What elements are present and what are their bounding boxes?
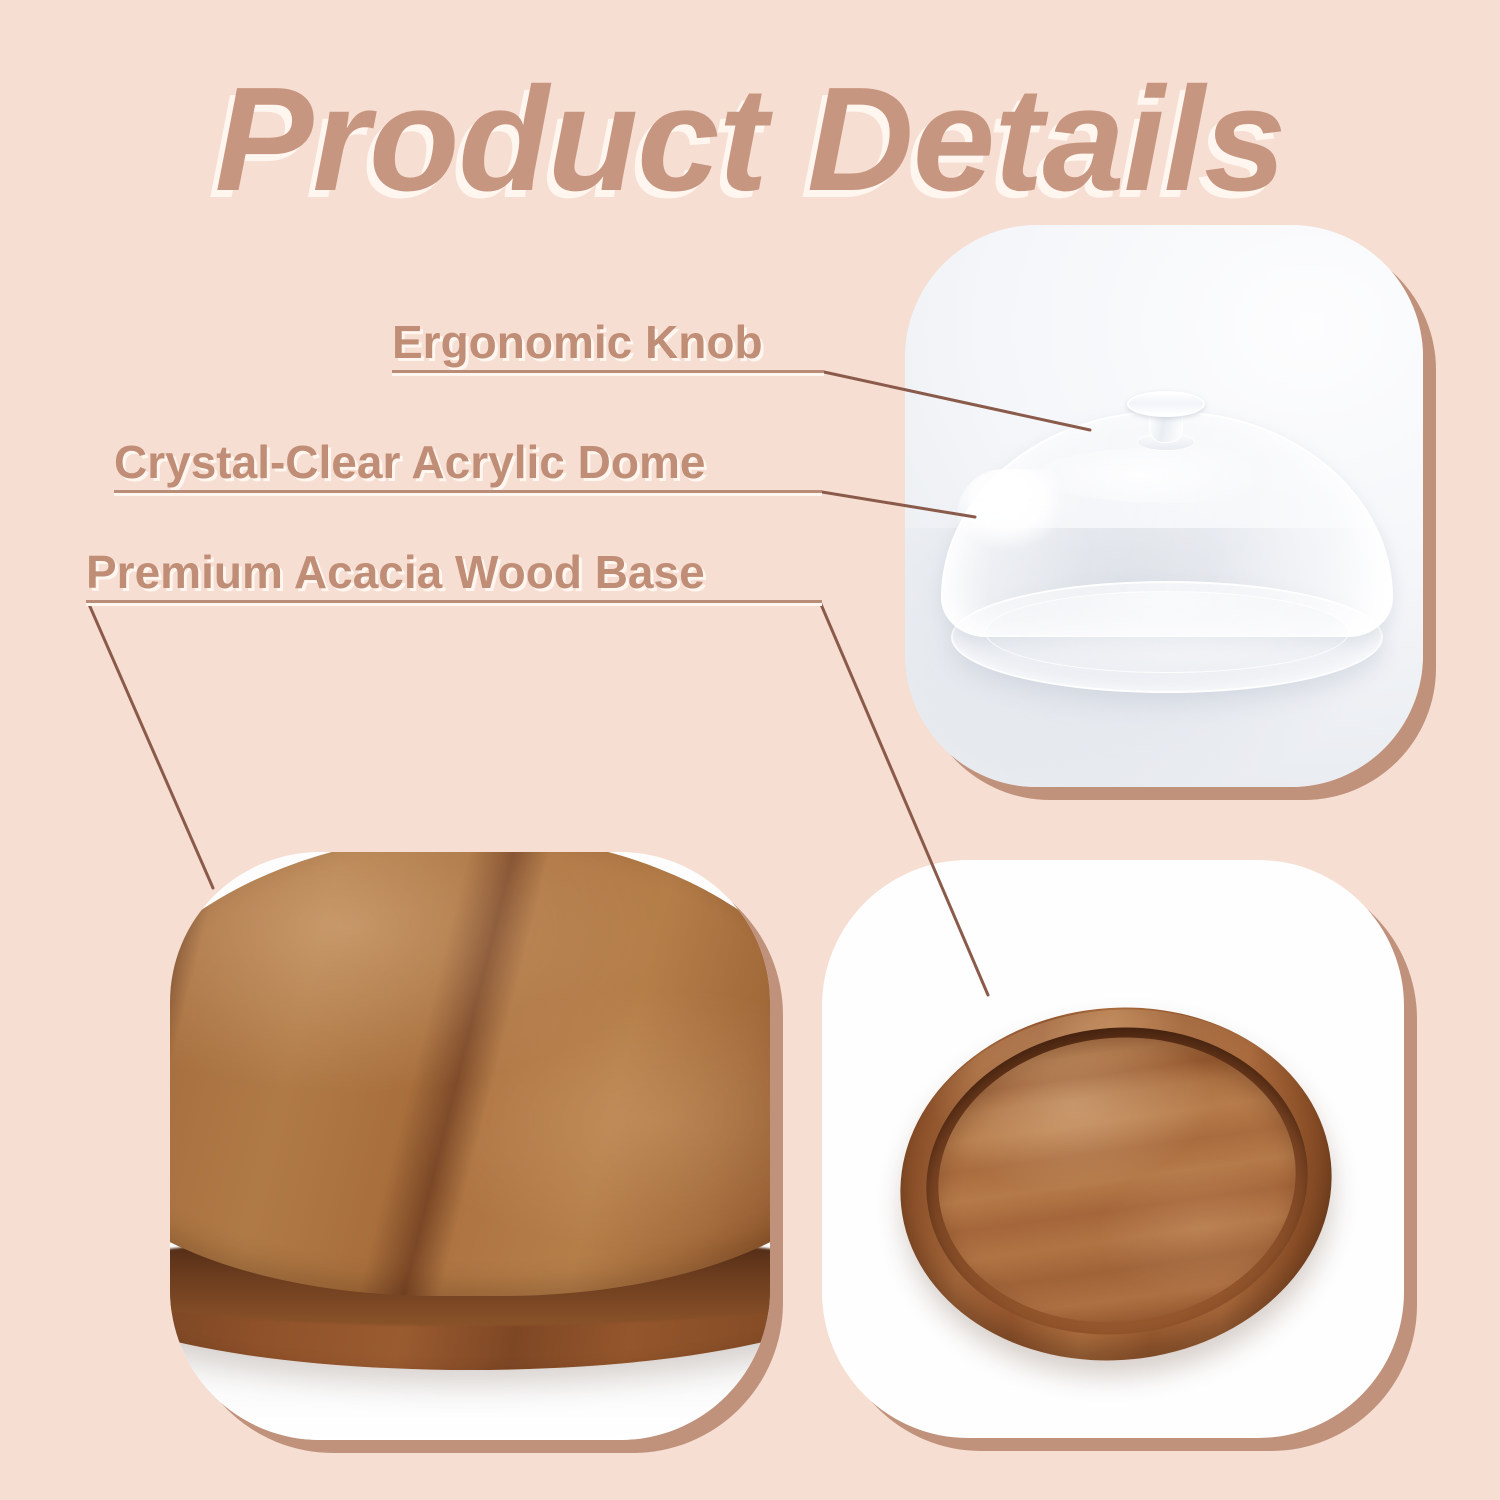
acrylic-dome-photo-panel <box>905 225 1423 787</box>
dome-left-highlight <box>957 469 1077 565</box>
callout-acacia-wood-base: Premium Acacia Wood Base <box>86 548 705 596</box>
callout-label-ergonomic-knob: Ergonomic Knob <box>392 318 763 366</box>
wood-grain-sheen <box>170 852 770 1296</box>
acacia-wood-tray-panel <box>822 860 1404 1438</box>
callout-underline-acrylic-dome <box>114 490 822 493</box>
leader-line-acacia-wood-base-left <box>88 602 213 888</box>
page-title: Product Details <box>0 66 1500 214</box>
dome-flange-inner-ellipse <box>985 591 1349 673</box>
callout-underline-acacia-wood-base <box>86 600 822 603</box>
acacia-wood-edge-closeup-panel <box>170 852 770 1440</box>
acrylic-dome-artwork <box>941 385 1393 705</box>
infographic-canvas: Product Details <box>0 0 1500 1500</box>
dome-top-sheen <box>1035 447 1311 503</box>
callout-label-acrylic-dome: Crystal-Clear Acrylic Dome <box>114 438 705 486</box>
callout-ergonomic-knob: Ergonomic Knob <box>392 318 763 366</box>
callout-acrylic-dome: Crystal-Clear Acrylic Dome <box>114 438 705 486</box>
dome-knob <box>1127 385 1205 447</box>
callout-underline-ergonomic-knob <box>392 370 824 373</box>
callout-label-acacia-wood-base: Premium Acacia Wood Base <box>86 548 705 596</box>
knob-cap <box>1127 391 1205 417</box>
